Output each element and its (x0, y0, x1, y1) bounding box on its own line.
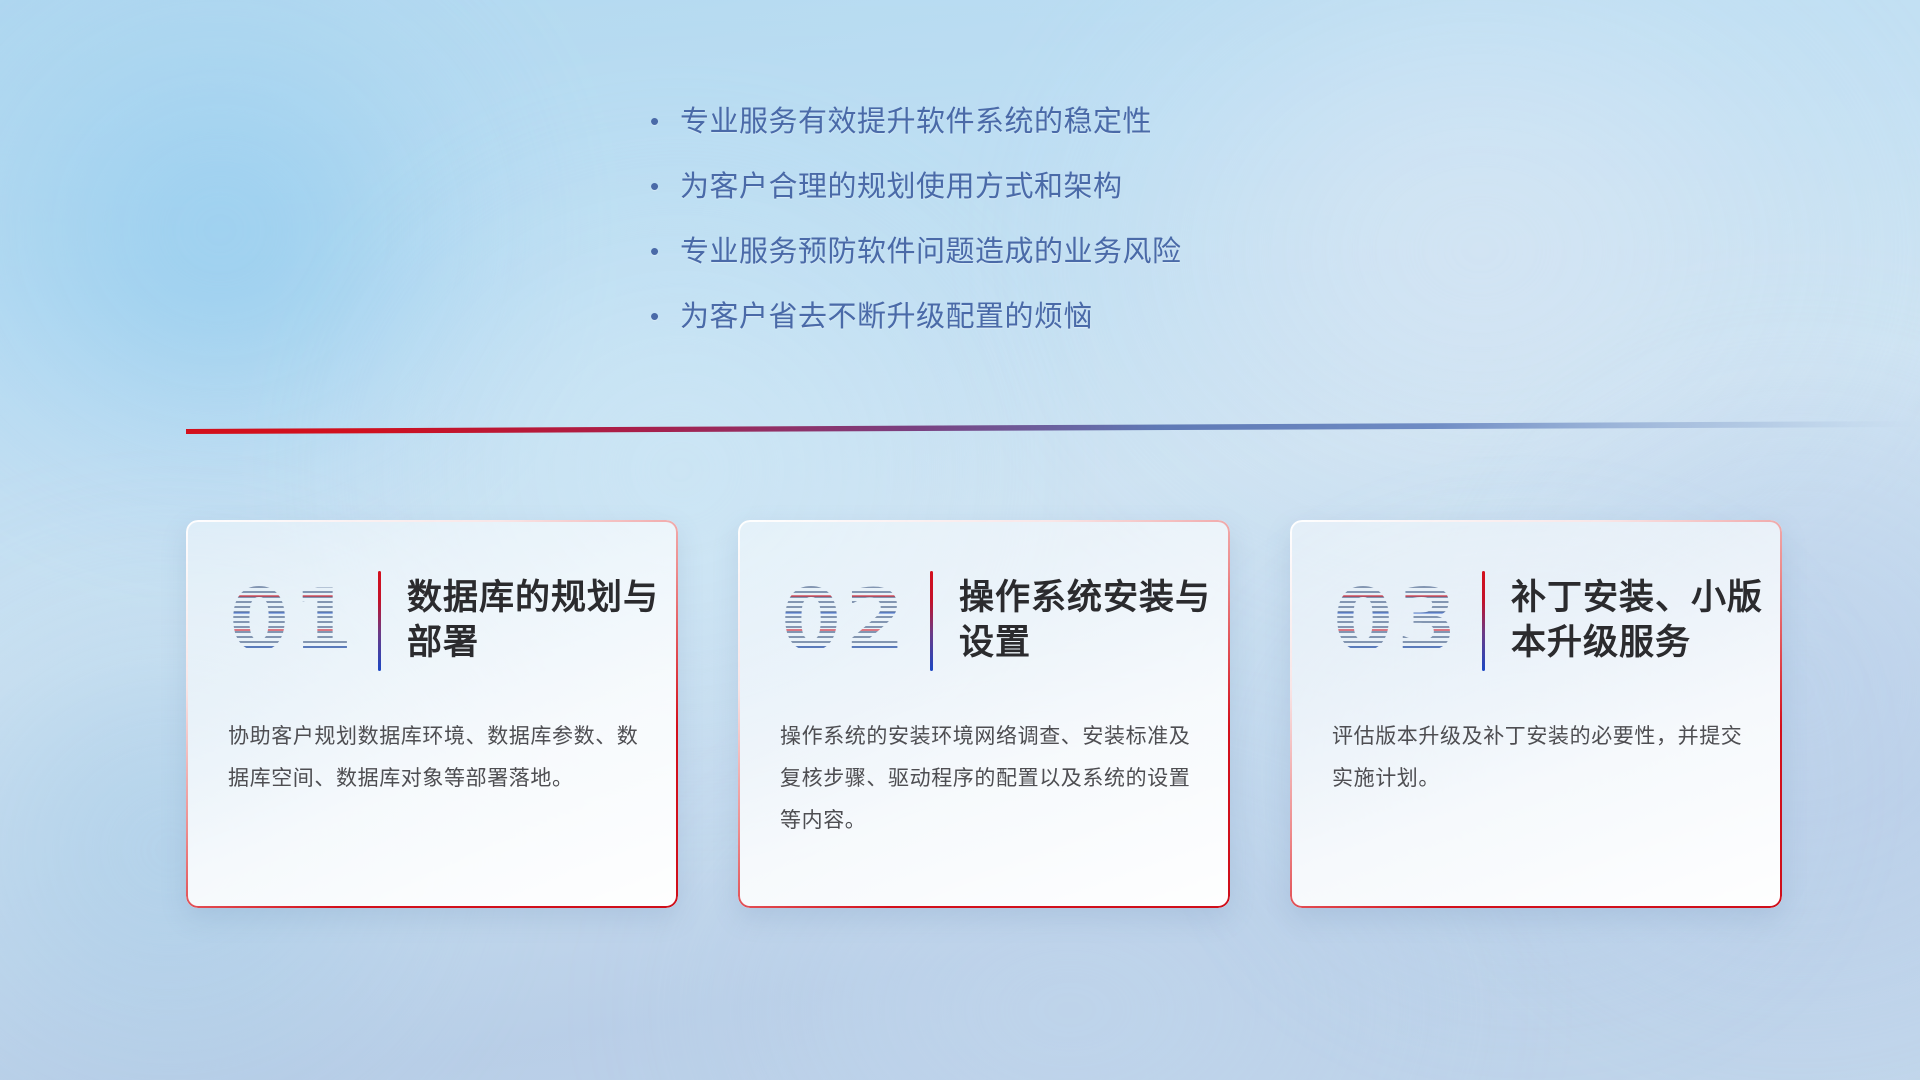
bullet-text: 为客户省去不断升级配置的烦恼 (680, 303, 1470, 332)
card-body-text: 操作系统的安装环境网络调查、安装标准及复核步骤、驱动程序的配置以及系统的设置等内… (780, 716, 1196, 842)
list-item: • 为客户合理的规划使用方式和架构 (650, 173, 1470, 202)
card-number-decoration: 03 03 (1312, 561, 1482, 681)
bullet-dot-icon: • (650, 303, 680, 330)
card-title: 操作系统安装与设置 (959, 576, 1230, 666)
card-number-decoration: 01 01 (208, 561, 378, 681)
card-header: 03 03 补丁安装、小版本升级服务 (1290, 546, 1782, 696)
section-divider (0, 415, 1920, 439)
bullet-text: 专业服务预防软件问题造成的业务风险 (680, 238, 1470, 267)
list-item: • 专业服务有效提升软件系统的稳定性 (650, 108, 1470, 137)
card-body-text: 评估版本升级及补丁安装的必要性，并提交实施计划。 (1332, 716, 1748, 800)
card-accent-bar (1482, 571, 1485, 671)
service-card[interactable]: 02 02 操作系统安装与设置 操作系统的安装环境网络调查、安装标准及复核步骤、… (738, 520, 1230, 908)
card-number-color-streaks: 02 (760, 561, 930, 681)
service-card[interactable]: 01 01 数据库的规划与部署 协助客户规划数据库环境、数据库参数、数据库空间、… (186, 520, 678, 908)
list-item: • 专业服务预防软件问题造成的业务风险 (650, 238, 1470, 267)
card-number-decoration: 02 02 (760, 561, 930, 681)
service-card[interactable]: 03 03 补丁安装、小版本升级服务 评估版本升级及补丁安装的必要性，并提交实施… (1290, 520, 1782, 908)
divider-rule-icon (0, 415, 1920, 439)
card-accent-bar (378, 571, 381, 671)
benefits-bullet-list: • 专业服务有效提升软件系统的稳定性 • 为客户合理的规划使用方式和架构 • 专… (650, 108, 1470, 368)
bullet-dot-icon: • (650, 173, 680, 200)
card-number-color-streaks: 01 (208, 561, 378, 681)
card-accent-bar (930, 571, 933, 671)
card-number-color-streaks: 03 (1312, 561, 1482, 681)
card-title: 数据库的规划与部署 (407, 576, 678, 666)
bullet-dot-icon: • (650, 108, 680, 135)
card-header: 01 01 数据库的规划与部署 (186, 546, 678, 696)
card-title: 补丁安装、小版本升级服务 (1511, 576, 1782, 666)
card-body-text: 协助客户规划数据库环境、数据库参数、数据库空间、数据库对象等部署落地。 (228, 716, 644, 800)
list-item: • 为客户省去不断升级配置的烦恼 (650, 303, 1470, 332)
service-card-list: 01 01 数据库的规划与部署 协助客户规划数据库环境、数据库参数、数据库空间、… (0, 520, 1920, 940)
bullet-text: 为客户合理的规划使用方式和架构 (680, 173, 1470, 202)
bullet-dot-icon: • (650, 238, 680, 265)
card-header: 02 02 操作系统安装与设置 (738, 546, 1230, 696)
bullet-text: 专业服务有效提升软件系统的稳定性 (680, 108, 1470, 137)
